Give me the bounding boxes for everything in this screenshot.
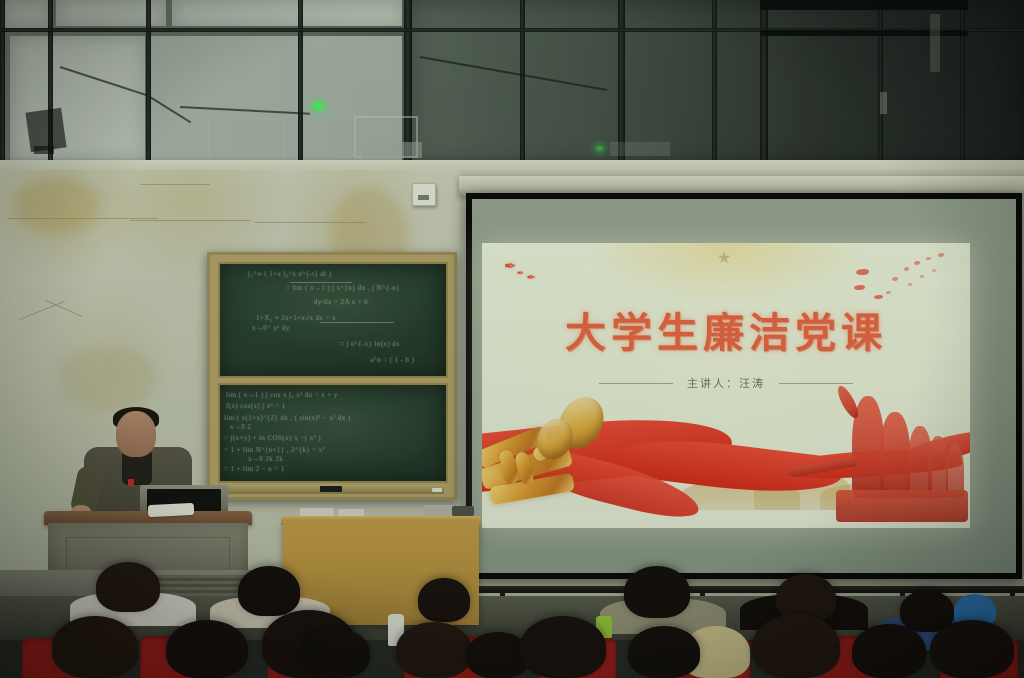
chalk-stick — [432, 488, 442, 492]
audience-head — [418, 578, 470, 622]
audience-head — [930, 620, 1014, 678]
audience-head — [300, 628, 370, 678]
reflected-frame — [208, 118, 284, 166]
petal-icon — [908, 283, 912, 286]
bird-icon: ✒ — [504, 258, 518, 275]
speaker-lapel-badge — [128, 479, 134, 486]
petal-icon — [914, 261, 920, 265]
petal-icon — [920, 275, 924, 278]
audience-head — [624, 566, 690, 618]
chalk-line: ∫₀^∞ ( 1+x ∫₀^x e^{-t} dt ) — [248, 270, 332, 279]
audience-head — [238, 566, 300, 616]
petal-icon — [938, 253, 944, 257]
window-mullion — [712, 0, 717, 180]
monument-base — [836, 490, 968, 522]
window-mullion — [960, 0, 965, 180]
monument-figure — [880, 412, 910, 498]
wall-crack — [140, 184, 210, 185]
speaker-notes-papers — [148, 503, 195, 517]
window-mullion — [878, 0, 883, 180]
blackboard-eraser — [320, 486, 342, 492]
hanging-fixture — [880, 92, 887, 114]
petal-icon — [926, 257, 931, 260]
window-mullion — [146, 0, 151, 180]
chalk-line: = lim ( x→1 ) ∫ x^{n} dx , ∫ N^{-n} — [286, 284, 400, 293]
petal-icon — [892, 277, 898, 281]
slide-title: 大学生廉洁党课 — [482, 299, 970, 359]
wall-crack — [20, 301, 65, 320]
chalk-line: dy/dx = 2A x + b — [314, 298, 368, 307]
audience-head — [628, 626, 700, 678]
audience-head — [396, 622, 472, 678]
window-mullion — [760, 0, 768, 180]
flying-birds-icon: ✒ ✒ ✒ — [504, 261, 547, 274]
table-object — [452, 506, 474, 516]
water-stain — [60, 346, 156, 410]
audience — [0, 560, 1024, 678]
monument-figure — [928, 436, 948, 498]
petal-icon — [932, 269, 936, 272]
chalk-line: x→0⁺ y² dy — [252, 324, 290, 333]
chalk-line: = ∫ e^{-x} ln(x) dx — [340, 340, 400, 349]
water-stain — [14, 176, 100, 234]
petal-icon — [886, 291, 891, 294]
bird-icon: ✒ — [526, 272, 536, 284]
table-object — [424, 505, 454, 516]
wall-crack — [46, 300, 83, 317]
audience-head — [852, 624, 926, 678]
table-object — [338, 509, 364, 516]
subtitle-rule-left — [599, 383, 673, 384]
window-pane — [172, 0, 402, 26]
petal-icon — [856, 269, 869, 275]
petal-icon — [904, 267, 909, 271]
window-header — [760, 0, 968, 10]
audience-head — [96, 562, 160, 612]
hanging-fixture — [930, 14, 940, 72]
petal-icon — [854, 285, 865, 290]
audience-head — [752, 614, 840, 678]
audience-head — [520, 616, 606, 678]
speaker-head — [116, 411, 156, 457]
upper-window-wall — [0, 0, 1024, 180]
indicator-light — [314, 103, 323, 109]
chalk-fraction-bar — [290, 282, 352, 283]
wall-sensor-box — [412, 183, 436, 206]
chalk-line: lim ( x→1 ) ∫ cos x ∫₀ x² dx = x + y — [226, 391, 338, 400]
reflected-ledge — [362, 142, 422, 158]
bird-icon: ✒ — [517, 268, 526, 278]
window-mullion — [520, 0, 525, 180]
bugle-trumpet-decoration — [482, 394, 661, 528]
wall-crack — [130, 220, 250, 221]
chalk-fraction-bar — [320, 322, 394, 323]
table-object — [300, 508, 334, 516]
audience-head — [166, 620, 248, 678]
window-mullion — [298, 0, 303, 180]
chalk-line: a^n = ( 1 - b ) — [370, 356, 414, 365]
reflected-ledge — [610, 142, 670, 156]
lecture-hall-photo: ∫₀^∞ ( 1+x ∫₀^x e^{-t} dt ) = lim ( x→1 … — [0, 0, 1024, 678]
monument-raised-arm — [834, 383, 861, 420]
revolutionary-monument-decoration — [828, 378, 970, 528]
projected-slide: ★ ✒ ✒ ✒ 大学生廉洁党课 主讲人：汪涛 — [482, 243, 970, 528]
indicator-light — [596, 146, 603, 151]
slide-subtitle: 主讲人：汪涛 — [687, 375, 765, 391]
window-mullion — [0, 0, 5, 180]
audience-head — [52, 616, 138, 678]
window-pane — [0, 0, 50, 28]
reflected-monitor-stand — [34, 146, 54, 154]
blackboard-upper-panel: ∫₀^∞ ( 1+x ∫₀^x e^{-t} dt ) = lim ( x→1 … — [218, 262, 448, 378]
